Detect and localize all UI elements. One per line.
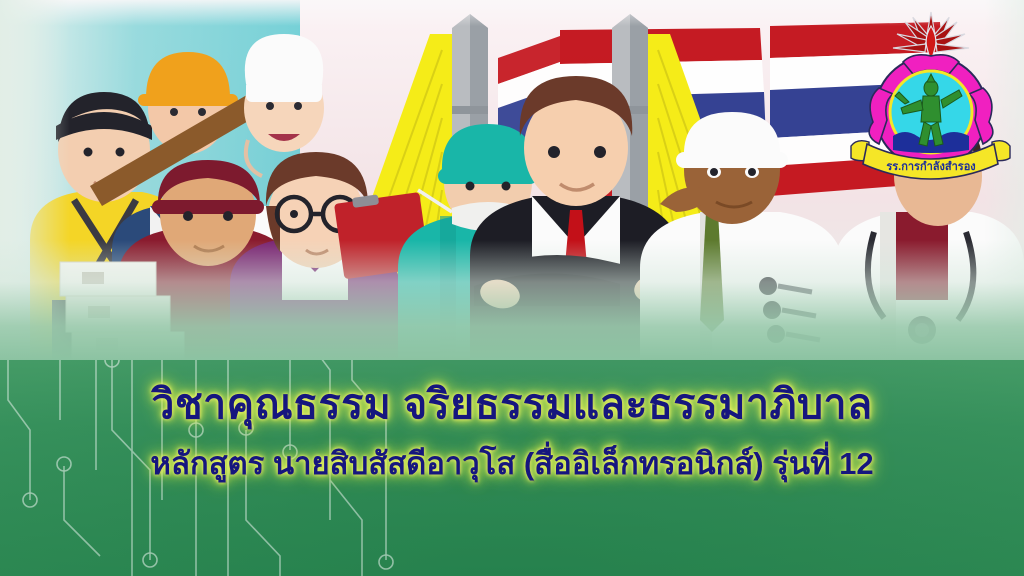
page-title: วิชาคุณธรรม จริยธรรมและธรรมาภิบาล [0, 382, 1024, 428]
emblem-banner-text: รร.การกำลังสำรอง [886, 160, 975, 173]
illustration-bottom-fade [0, 240, 1024, 360]
thai-military-emblem: รร.การกำลังสำรอง [843, 4, 1018, 194]
page-subtitle: หลักสูตร นายสิบสัสดีอาวุโส (สื่ออิเล็กทร… [0, 446, 1024, 482]
title-block: วิชาคุณธรรม จริยธรรมและธรรมาภิบาล หลักสู… [0, 382, 1024, 482]
slide-root: รร.การกำลังสำรอง วิชาคุณธรรม จริยธรรมและ… [0, 0, 1024, 576]
